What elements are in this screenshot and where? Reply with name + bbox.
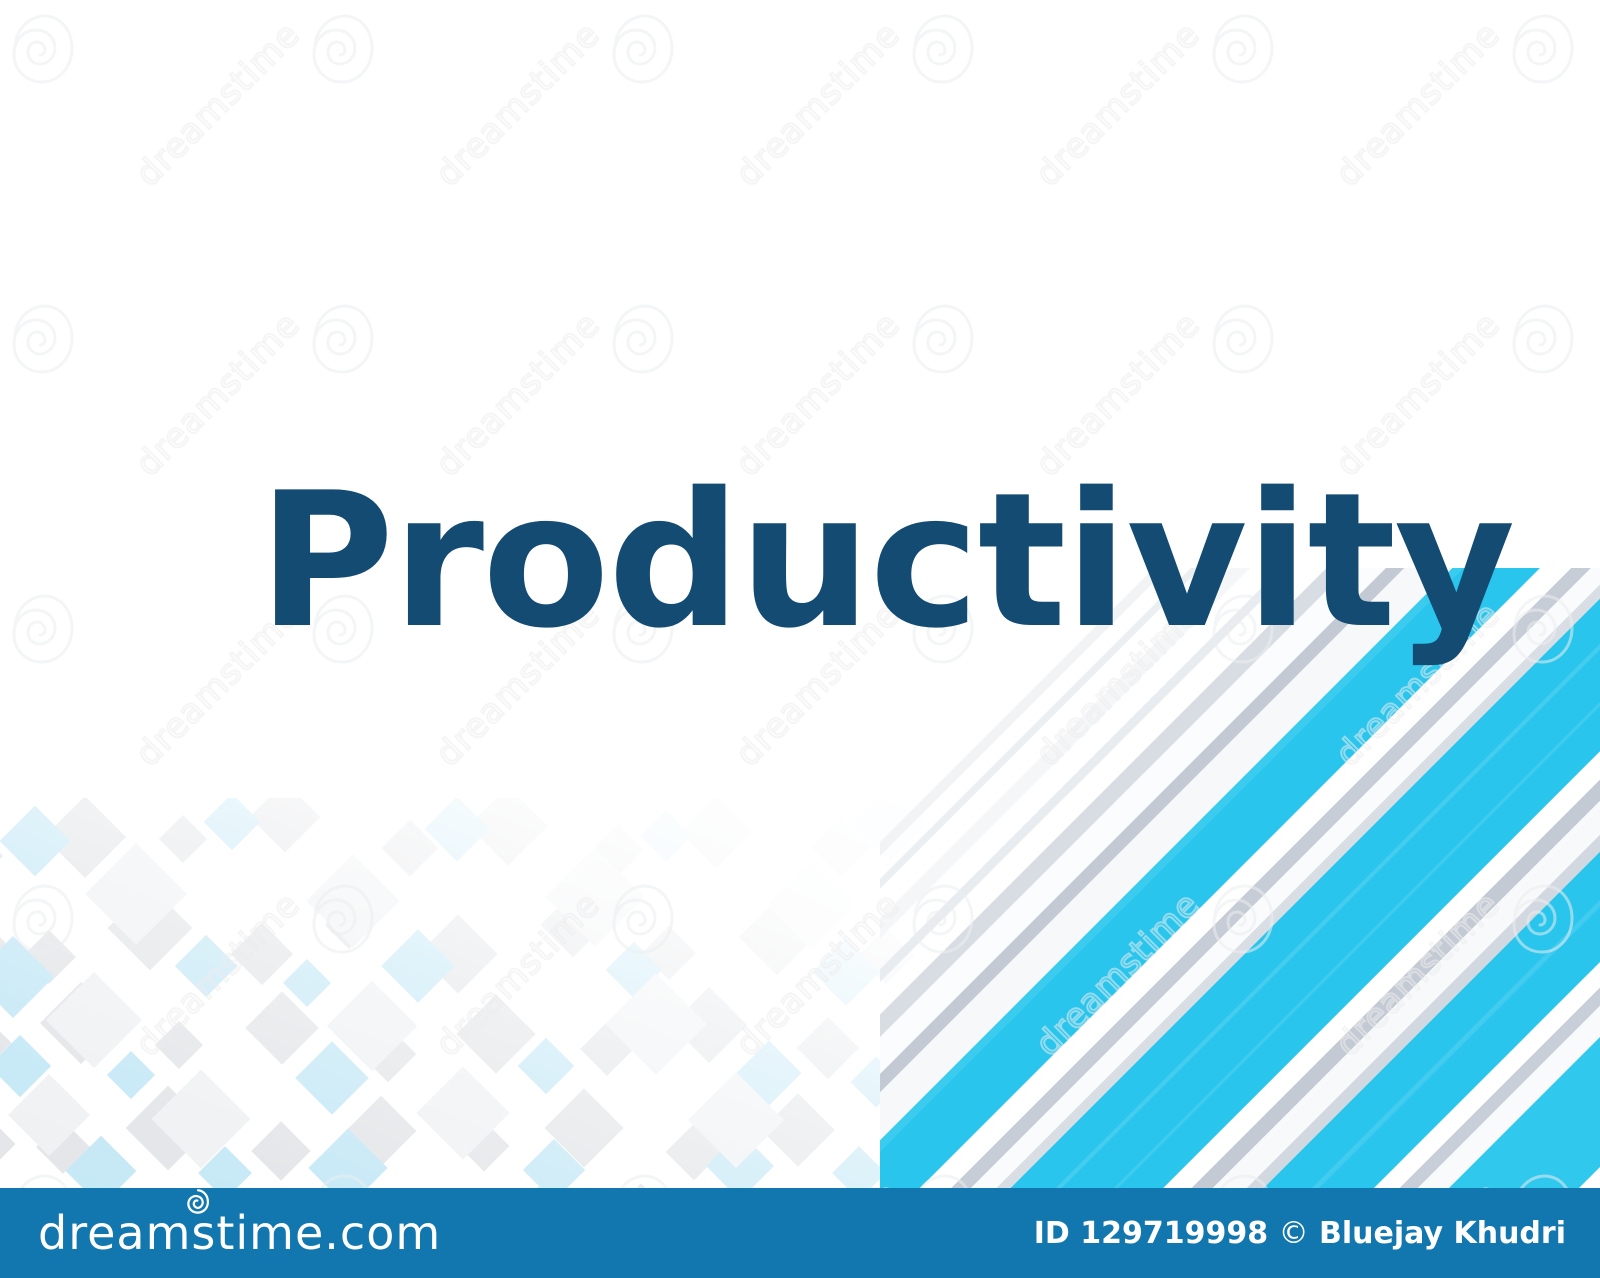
artwork-area: dreamstime Productivity xyxy=(0,0,1600,1188)
image-id: ID 129719998 xyxy=(1034,1216,1268,1251)
copyright-icon: © xyxy=(1279,1216,1309,1251)
stock-image-canvas: dreamstime Productivity xyxy=(0,0,1600,1278)
page-title: Productivity xyxy=(258,468,1358,654)
spiral-icon xyxy=(184,1188,210,1214)
author-name: Bluejay Khudri xyxy=(1319,1216,1566,1251)
dreamstime-brand-label: dreamstime.com xyxy=(38,1210,441,1256)
dreamstime-attribution-bar: dreamstime.com ID 129719998 © Bluejay Kh… xyxy=(0,1188,1600,1278)
diamond-pattern-background xyxy=(0,798,960,1188)
dreamstime-brand[interactable]: dreamstime.com xyxy=(38,1210,441,1256)
image-credit: ID 129719998 © Bluejay Khudri xyxy=(1034,1216,1576,1251)
